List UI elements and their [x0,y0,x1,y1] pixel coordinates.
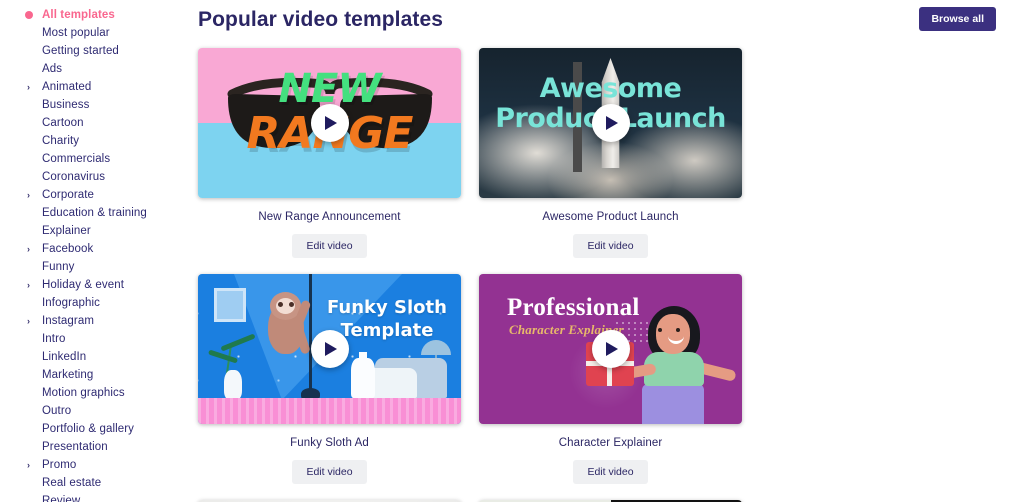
bullet-dot-icon [25,11,33,19]
vase-graphic [224,370,242,400]
sidebar-item-label: Funny [42,261,74,273]
sidebar-item-label: Intro [42,333,66,345]
sidebar-item-commercials[interactable]: Commercials [0,150,190,168]
thumb-line-1: Funky Sloth [327,296,447,319]
bottle-graphic [351,358,375,398]
main-content: Popular video templates Browse all NEW R… [190,0,1024,502]
play-icon[interactable] [592,104,630,142]
sidebar-item-label: Real estate [42,477,101,489]
sidebar-item-instagram[interactable]: ›Instagram [0,312,190,330]
browse-all-button[interactable]: Browse all [919,7,996,31]
sidebar-item-outro[interactable]: Outro [0,402,190,420]
sidebar-item-label: Explainer [42,225,91,237]
sidebar-item-label: Presentation [42,441,108,453]
edit-video-button-wrap: Edit video [479,460,742,484]
template-card-title: Funky Sloth Ad [198,437,461,449]
edit-video-button-wrap: Edit video [198,460,461,484]
sidebar-item-label: Most popular [42,27,110,39]
sidebar-item-all-templates[interactable]: All templates [0,6,190,24]
edit-video-button[interactable]: Edit video [573,460,647,484]
sidebar-item-label: Facebook [42,243,93,255]
sidebar-item-label: Motion graphics [42,387,125,399]
template-card: Professional Character Explainer Charact… [479,274,742,484]
sidebar-item-label: Ads [42,63,62,75]
sidebar-item-label: Review [42,495,80,502]
play-icon[interactable] [311,330,349,368]
edit-video-button[interactable]: Edit video [292,234,366,258]
sidebar-item-label: Infographic [42,297,100,309]
edit-video-button-wrap: Edit video [198,234,461,258]
sidebar-item-label: Animated [42,81,91,93]
sidebar-item-marketing[interactable]: Marketing [0,366,190,384]
template-card: Awesome Product Launch Awesome Product L… [479,48,742,258]
chevron-right-icon[interactable]: › [27,276,30,294]
chevron-right-icon[interactable]: › [27,78,30,96]
sidebar-item-explainer[interactable]: Explainer [0,222,190,240]
template-card-title: Awesome Product Launch [479,211,742,223]
sidebar-item-linkedin[interactable]: LinkedIn [0,348,190,366]
templates-page: All templatesMost popularGetting started… [0,0,1024,502]
chevron-right-icon[interactable]: › [27,312,30,330]
sidebar-item-label: Cartoon [42,117,84,129]
content-header: Popular video templates Browse all [198,0,996,44]
sidebar-item-animated[interactable]: ›Animated [0,78,190,96]
sidebar-item-label: Getting started [42,45,119,57]
chevron-right-icon[interactable]: › [27,456,30,474]
sidebar-item-label: Marketing [42,369,93,381]
sidebar-item-motion-graphics[interactable]: Motion graphics [0,384,190,402]
play-triangle [325,116,337,130]
sidebar-item-label: All templates [42,9,115,21]
sidebar-item-label: Charity [42,135,79,147]
sidebar-item-facebook[interactable]: ›Facebook [0,240,190,258]
edit-video-button-wrap: Edit video [479,234,742,258]
sidebar-item-label: Education & training [42,207,147,219]
sidebar-item-cartoon[interactable]: Cartoon [0,114,190,132]
sidebar-item-holiday-event[interactable]: ›Holiday & event [0,276,190,294]
page-title: Popular video templates [198,6,443,34]
template-card-title: Character Explainer [479,437,742,449]
character-face-graphic [656,314,690,354]
sidebar-item-getting-started[interactable]: Getting started [0,42,190,60]
thumb-line-1: Professional [507,294,640,322]
template-thumbnail[interactable]: Funky Sloth Template [198,274,461,424]
sidebar-item-presentation[interactable]: Presentation [0,438,190,456]
sidebar-item-charity[interactable]: Charity [0,132,190,150]
sidebar-item-label: Outro [42,405,71,417]
sidebar-item-label: Coronavirus [42,171,105,183]
sidebar-item-label: Holiday & event [42,279,124,291]
play-triangle [325,342,337,356]
character-skirt-graphic [642,384,704,424]
sidebar-item-label: Commercials [42,153,110,165]
sidebar-item-funny[interactable]: Funny [0,258,190,276]
edit-video-button[interactable]: Edit video [292,460,366,484]
sidebar-item-label: Promo [42,459,76,471]
floor-strip-graphic [198,398,461,424]
character-eye-graphic [676,328,680,332]
play-icon[interactable] [592,330,630,368]
thumb-text: Funky Sloth Template [327,296,447,342]
template-thumbnail[interactable]: NEW RANGE [198,48,461,198]
sidebar-item-education-training[interactable]: Education & training [0,204,190,222]
picture-frame-graphic [214,288,246,322]
pole-graphic [309,274,312,398]
sidebar-item-business[interactable]: Business [0,96,190,114]
sidebar-item-portfolio-gallery[interactable]: Portfolio & gallery [0,420,190,438]
template-card: NEW RANGE New Range AnnouncementEdit vid… [198,48,461,258]
chevron-right-icon[interactable]: › [27,186,30,204]
sidebar-item-corporate[interactable]: ›Corporate [0,186,190,204]
play-triangle [606,116,618,130]
category-sidebar: All templatesMost popularGetting started… [0,0,190,502]
sidebar-item-most-popular[interactable]: Most popular [0,24,190,42]
template-thumbnail[interactable]: Awesome Product Launch [479,48,742,198]
template-card-title: New Range Announcement [198,211,461,223]
sidebar-item-label: Portfolio & gallery [42,423,134,435]
template-card: Funky Sloth Template Funky Sloth AdEdit … [198,274,461,484]
sidebar-item-review[interactable]: Review [0,492,190,502]
sidebar-item-label: Corporate [42,189,94,201]
sidebar-item-promo[interactable]: ›Promo [0,456,190,474]
sidebar-item-label: Business [42,99,89,111]
chevron-right-icon[interactable]: › [27,240,30,258]
sloth-eye-graphic [289,302,294,307]
edit-video-button[interactable]: Edit video [573,234,647,258]
sidebar-item-intro[interactable]: Intro [0,330,190,348]
play-icon[interactable] [311,104,349,142]
sidebar-item-real-estate[interactable]: Real estate [0,474,190,492]
sidebar-item-label: LinkedIn [42,351,86,363]
sloth-eye-graphic [278,302,283,307]
sidebar-item-ads[interactable]: Ads [0,60,190,78]
template-thumbnail[interactable]: Professional Character Explainer [479,274,742,424]
play-triangle [606,342,618,356]
sidebar-item-coronavirus[interactable]: Coronavirus [0,168,190,186]
sidebar-item-infographic[interactable]: Infographic [0,294,190,312]
character-eye-graphic [658,328,662,332]
template-grid: NEW RANGE New Range AnnouncementEdit vid… [198,44,996,502]
sidebar-item-label: Instagram [42,315,94,327]
